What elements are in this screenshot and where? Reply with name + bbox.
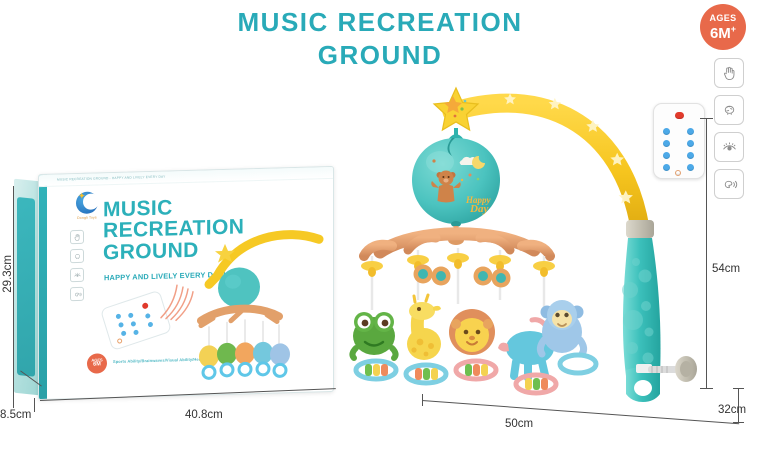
package-side-panel (14, 179, 40, 396)
package-product-illustration (179, 211, 329, 385)
sparkle-icon: ✦ (78, 191, 86, 202)
svg-text:Day: Day (469, 203, 488, 215)
ages-badge-label: AGES (709, 14, 736, 23)
giraffe-rattle (407, 295, 441, 360)
package-edge-accent (39, 175, 47, 399)
dim-label-product-height: 54cm (712, 263, 740, 275)
package-box: MUSIC RECREATION GROUND - HAPPY AND LIVE… (14, 168, 334, 408)
page-title: MUSIC RECREATION GROUND (200, 6, 560, 73)
package-front-panel: MUSIC RECREATION GROUND - HAPPY AND LIVE… (38, 166, 334, 400)
dim-label-box-height: 29.3cm (2, 255, 16, 293)
package-side-icons (70, 230, 84, 306)
product-illustration: Happy Day (340, 70, 740, 410)
eye-icon (70, 268, 84, 282)
frog-rattle (352, 312, 395, 358)
remote-power-button (675, 112, 684, 119)
dim-tick-width-left (422, 394, 423, 406)
package-ages-value: 6M (93, 363, 101, 369)
page-title-line2: GROUND (200, 39, 560, 72)
hand-icon (70, 230, 84, 244)
dim-line-box-left (13, 186, 14, 408)
moon-star-logo: ✦ (76, 191, 98, 214)
product-spec-sheet: MUSIC RECREATION GROUND AGES 6M+ (0, 0, 760, 454)
ages-badge: AGES 6M+ (700, 4, 746, 50)
package-side-strip (17, 197, 35, 377)
brain-icon (70, 249, 84, 263)
remote-control (653, 103, 705, 179)
dim-label-base-height: 32cm (718, 404, 746, 416)
ages-badge-value: 6M (710, 25, 731, 42)
dim-tick-base-top (733, 388, 744, 389)
remote-reset-button (675, 170, 681, 176)
dim-label-box-width: 40.8cm (185, 409, 223, 421)
package-ages-badge: AGES 6M (87, 353, 107, 374)
lion-rattle (449, 309, 495, 355)
package-brand-text: Dongli Toys (77, 215, 97, 220)
dim-tick-depth (34, 398, 35, 412)
dim-tick-height-top (700, 118, 713, 119)
dim-label-product-width: 50cm (505, 418, 533, 430)
package-brand-logo: ✦ Dongli Toys (67, 191, 107, 226)
dim-tick-height-bottom (700, 388, 713, 389)
sound-icon (70, 287, 84, 301)
dim-line-product-height (706, 118, 707, 388)
dim-label-box-depth: 8.5cm (0, 409, 31, 421)
ages-badge-superscript: + (731, 24, 736, 34)
page-title-line1: MUSIC RECREATION (238, 7, 523, 37)
